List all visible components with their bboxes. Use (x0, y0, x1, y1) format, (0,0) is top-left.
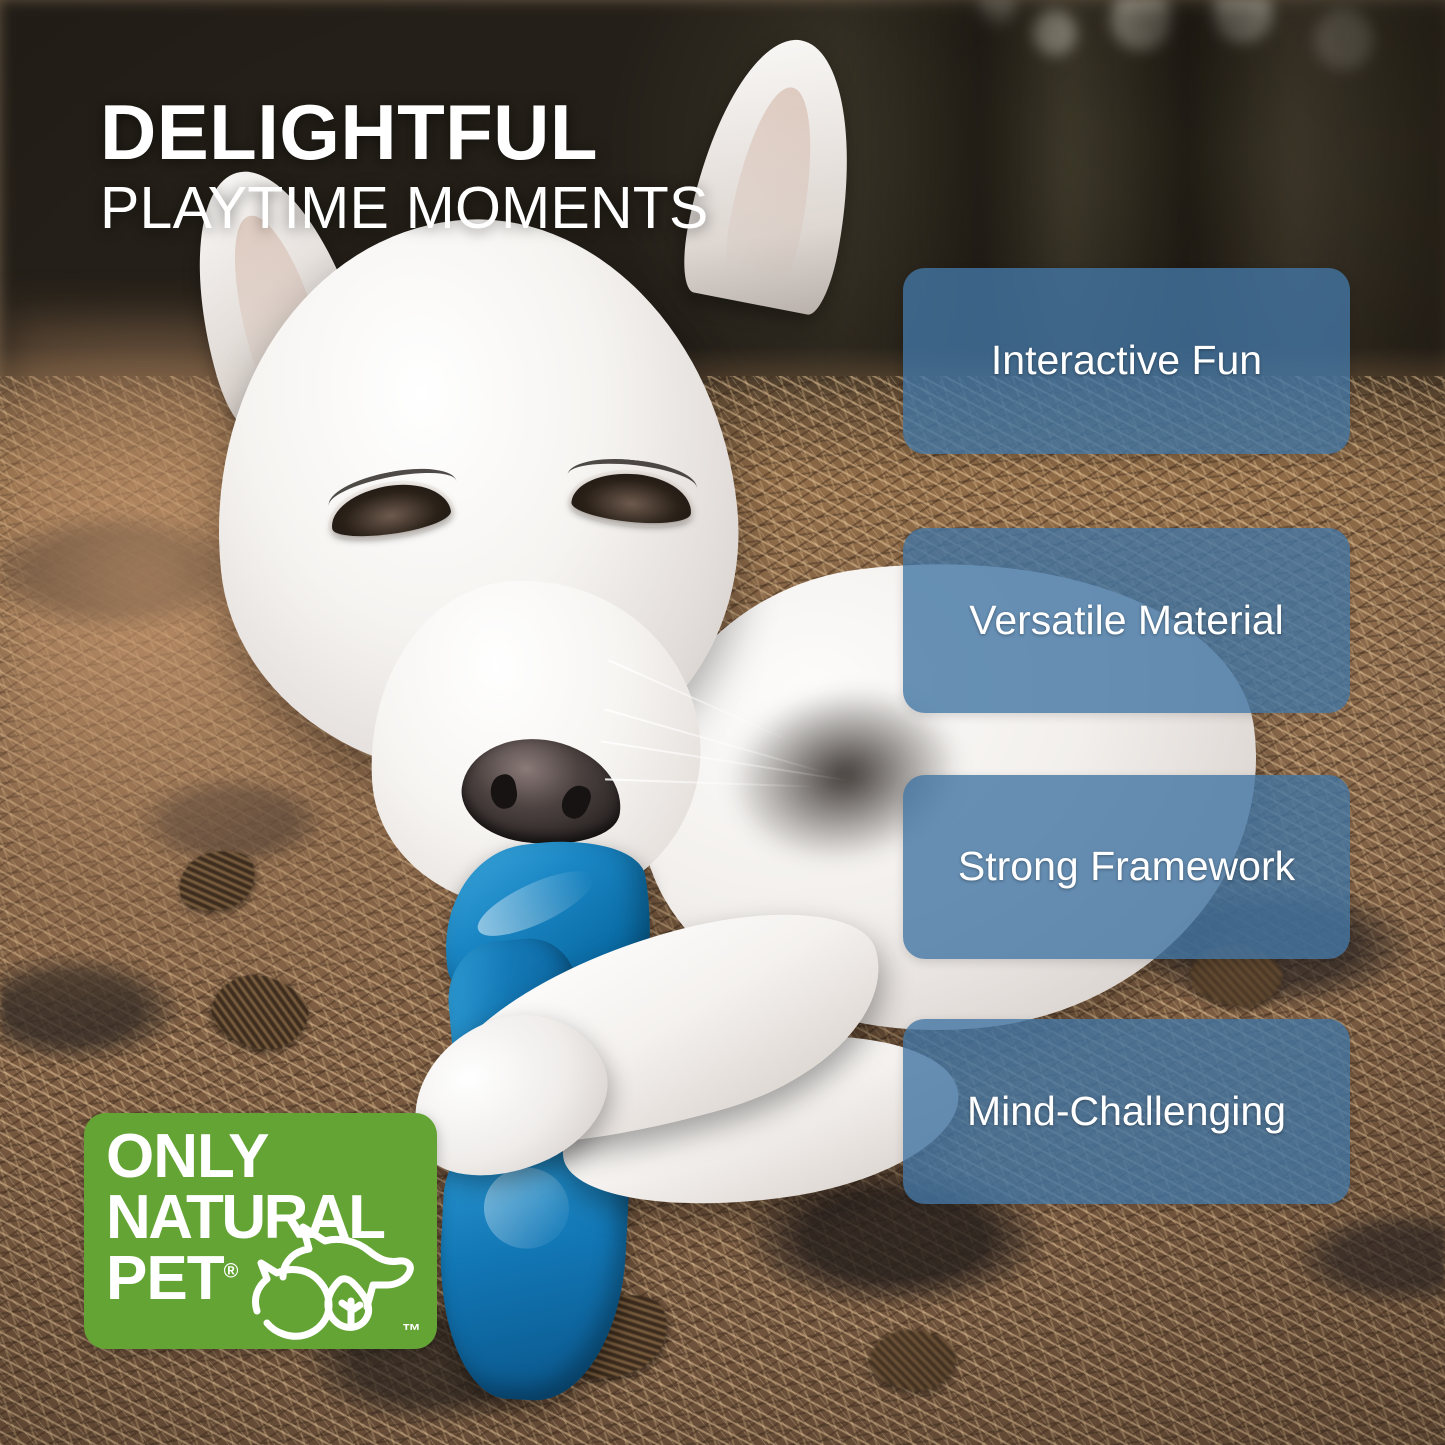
feature-badge-label: Strong Framework (958, 844, 1295, 889)
feature-badge-strong-framework[interactable]: Strong Framework (903, 775, 1350, 959)
brand-logo-line-1: ONLY (106, 1127, 384, 1188)
feature-badge-label: Versatile Material (969, 598, 1283, 643)
brand-logo-line-3-text: PET (106, 1244, 224, 1313)
trademark-symbol: ™ (402, 1321, 421, 1343)
product-lifestyle-image: DELIGHTFUL PLAYTIME MOMENTS Interactive … (0, 0, 1445, 1445)
feature-badge-label: Mind-Challenging (967, 1089, 1286, 1134)
headline-block: DELIGHTFUL PLAYTIME MOMENTS (100, 96, 709, 240)
registered-trademark-symbol: ® (224, 1260, 239, 1282)
feature-badge-label: Interactive Fun (991, 338, 1262, 383)
headline-primary: DELIGHTFUL (100, 96, 709, 169)
feature-badge-mind-challenging[interactable]: Mind-Challenging (903, 1019, 1350, 1204)
headline-secondary: PLAYTIME MOMENTS (100, 177, 709, 240)
brand-logo[interactable]: ONLY NATURAL PET® ™ (84, 1113, 437, 1349)
feature-badge-versatile-material[interactable]: Versatile Material (903, 528, 1350, 713)
feature-badge-interactive-fun[interactable]: Interactive Fun (903, 268, 1350, 454)
